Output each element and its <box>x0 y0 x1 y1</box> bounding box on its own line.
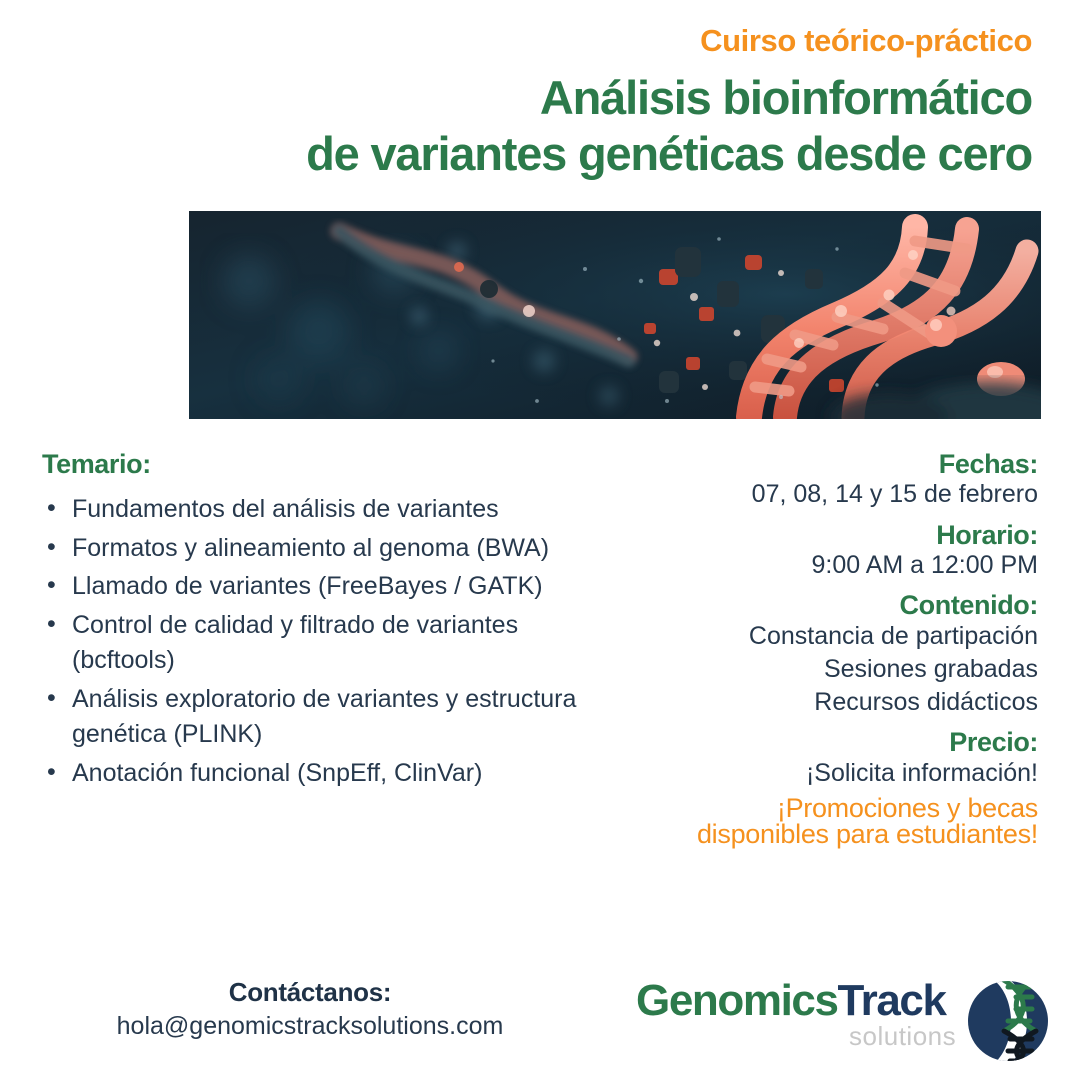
content-item: Recursos didácticos <box>618 686 1038 719</box>
list-item: Llamado de variantes (FreeBayes / GATK) <box>42 569 622 605</box>
logo-tagline: solutions <box>849 1023 956 1049</box>
list-item: Formatos y alineamiento al genoma (BWA) <box>42 531 622 567</box>
logo-wordmark: GenomicsTrack <box>636 979 946 1023</box>
list-item: Fundamentos del análisis de variantes <box>42 492 622 528</box>
logo-word-primary: Genomics <box>636 976 838 1025</box>
syllabus-list: Fundamentos del análisis de variantes Fo… <box>42 492 622 791</box>
content-item: Sesiones grabadas <box>618 653 1038 686</box>
dates-value: 07, 08, 14 y 15 de febrero <box>618 478 1038 511</box>
content-heading: Contenido: <box>618 591 1038 619</box>
content-item: Constancia de partipación <box>618 620 1038 653</box>
list-item: Anotación funcional (SnpEff, ClinVar) <box>42 756 622 792</box>
contact-heading: Contáctanos: <box>30 978 590 1007</box>
syllabus-section: Temario: Fundamentos del análisis de var… <box>42 450 622 794</box>
contact-block: Contáctanos: hola@genomicstracksolutions… <box>30 978 590 1042</box>
details-section: Fechas: 07, 08, 14 y 15 de febrero Horar… <box>618 450 1038 847</box>
schedule-value: 9:00 AM a 12:00 PM <box>618 549 1038 582</box>
dna-circle-icon <box>960 973 1056 1069</box>
page-title: Análisis bioinformático de variantes gen… <box>0 70 1032 183</box>
header: Cuirso teórico-práctico Análisis bioinfo… <box>0 0 1080 183</box>
promo-note: ¡Promociones y becas disponibles para es… <box>618 796 1038 847</box>
price-heading: Precio: <box>618 728 1038 756</box>
schedule-heading: Horario: <box>618 521 1038 549</box>
flyer-page: Cuirso teórico-práctico Análisis bioinfo… <box>0 0 1080 1080</box>
hero-image <box>189 211 1041 419</box>
list-item: Control de calidad y filtrado de variant… <box>42 608 622 679</box>
contact-email[interactable]: hola@genomicstracksolutions.com <box>30 1011 590 1042</box>
list-item: Análisis exploratorio de variantes y est… <box>42 682 622 753</box>
dates-heading: Fechas: <box>618 450 1038 478</box>
dna-illustration <box>189 211 1041 419</box>
logo-word-secondary: Track <box>838 976 946 1025</box>
syllabus-heading: Temario: <box>42 450 622 478</box>
brand-logo: GenomicsTrack solutions <box>636 975 1056 1071</box>
price-value: ¡Solicita información! <box>618 757 1038 790</box>
course-kicker: Cuirso teórico-práctico <box>0 25 1032 56</box>
